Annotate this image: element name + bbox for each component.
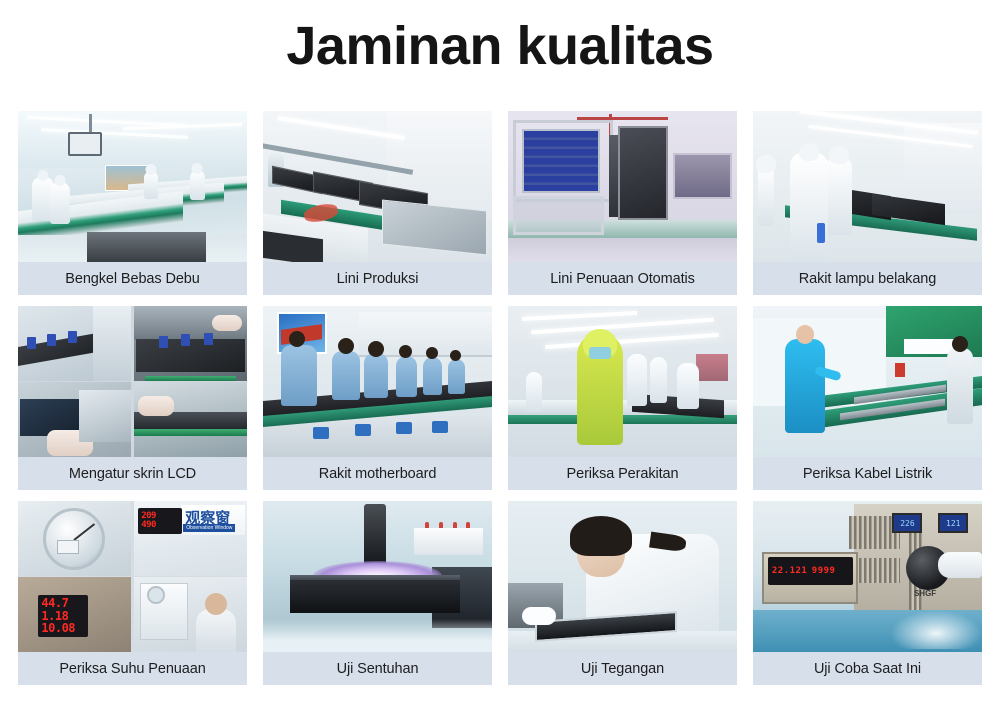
pressure-gauge-quadrant (18, 501, 131, 576)
photo-motherboard-assembly (263, 306, 492, 457)
photo-caption: Periksa Suhu Penuaan (18, 652, 247, 685)
lcd-right: 121 (938, 513, 968, 533)
inspector-quadrant (134, 577, 247, 652)
photo-cleanroom-workshop (18, 111, 247, 262)
led-thermometer-quadrant: 44.7 1.18 10.08 (18, 577, 131, 652)
photo-card[interactable]: Lini Produksi (263, 111, 492, 295)
photo-card[interactable]: Uji Sentuhan (263, 501, 492, 685)
quality-assurance-page: Jaminan kualitas (0, 0, 1000, 714)
photo-touch-test (263, 501, 492, 652)
photo-card[interactable]: 22.121 9999 226 121 SHGF Uji Coba Saat I… (753, 501, 982, 685)
photo-card[interactable]: Periksa Perakitan (508, 306, 737, 490)
photo-card[interactable]: Rakit lampu belakang (753, 111, 982, 295)
photo-card[interactable]: Uji Tegangan (508, 501, 737, 685)
photo-caption: Rakit lampu belakang (753, 262, 982, 295)
photo-grid: Bengkel Bebas Debu (18, 111, 982, 685)
page-title: Jaminan kualitas (0, 0, 1000, 75)
photo-backlight-assembly (753, 111, 982, 262)
photo-caption: Uji Coba Saat Ini (753, 652, 982, 685)
photo-card[interactable]: Periksa Kabel Listrik (753, 306, 982, 490)
photo-card[interactable]: Lini Penuaan Otomatis (508, 111, 737, 295)
observation-window-en: Observation Window (183, 524, 235, 532)
photo-power-cable-inspection (753, 306, 982, 457)
photo-card[interactable]: Rakit motherboard (263, 306, 492, 490)
photo-assembly-inspection (508, 306, 737, 457)
photo-card[interactable]: 观察窗 Observation Window 209 490 44.7 1.18… (18, 501, 247, 685)
photo-production-line (263, 111, 492, 262)
photo-current-trial: 22.121 9999 226 121 SHGF (753, 501, 982, 652)
aging-led-display-bottom: 44.7 1.18 10.08 (38, 595, 88, 637)
photo-caption: Uji Tegangan (508, 652, 737, 685)
photo-caption: Periksa Perakitan (508, 457, 737, 490)
photo-caption: Bengkel Bebas Debu (18, 262, 247, 295)
device-brand-label: SHGF (914, 589, 936, 598)
instrument-meter: 22.121 9999 (762, 552, 858, 603)
photo-voltage-test (508, 501, 737, 652)
photo-caption: Rakit motherboard (263, 457, 492, 490)
photo-caption: Lini Penuaan Otomatis (508, 262, 737, 295)
photo-card[interactable]: Bengkel Bebas Debu (18, 111, 247, 295)
photo-caption: Uji Sentuhan (263, 652, 492, 685)
photo-caption: Mengatur skrin LCD (18, 457, 247, 490)
photo-caption: Periksa Kabel Listrik (753, 457, 982, 490)
temperature-display-quadrant: 观察窗 Observation Window 209 490 (134, 501, 247, 576)
photo-card[interactable]: Mengatur skrin LCD (18, 306, 247, 490)
aging-led-display-top: 209 490 (138, 508, 182, 534)
current-led-panel: 22.121 9999 (768, 557, 853, 584)
photo-lcd-screen-collage (18, 306, 247, 457)
lcd-left: 226 (892, 513, 922, 533)
photo-aging-temperature-collage: 观察窗 Observation Window 209 490 44.7 1.18… (18, 501, 247, 652)
photo-automatic-aging-line (508, 111, 737, 262)
photo-caption: Lini Produksi (263, 262, 492, 295)
